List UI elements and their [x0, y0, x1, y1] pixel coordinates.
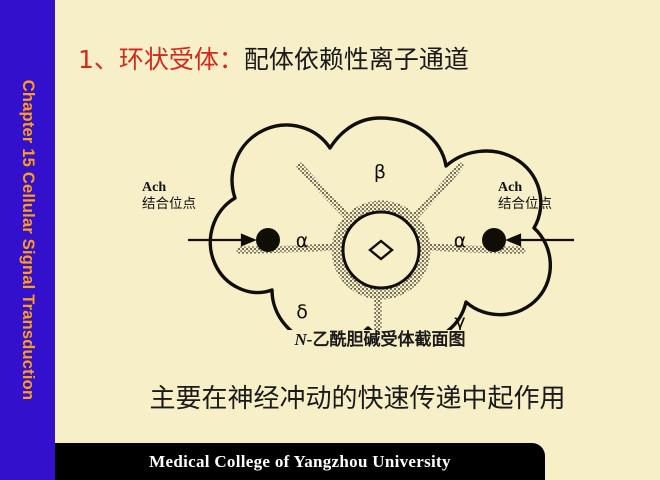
ach-binding-site-label-left: Ach 结合位点 — [142, 180, 196, 212]
ach-label-left-en: Ach — [142, 180, 196, 197]
page-title-rest: 配体依赖性离子通道 — [244, 45, 469, 74]
subunit-label-delta: δ — [296, 301, 308, 323]
ach-label-right-en: Ach — [498, 180, 552, 197]
nicotinic-receptor-illustration: β α α δ γ — [130, 100, 630, 330]
subunit-label-beta: β — [374, 161, 386, 183]
page-title: 1、环状受体：配体依赖性离子通道 — [78, 40, 469, 76]
diagram-caption-text: 乙酰胆碱受体截面图 — [312, 330, 465, 350]
receptor-diagram: β α α δ γ Ach 结合位点 Ach 结合位点 N-乙酰胆碱受体截面图 — [130, 100, 630, 370]
subunit-label-alpha-right: α — [454, 230, 467, 252]
ach-binding-site-label-right: Ach 结合位点 — [498, 180, 552, 212]
central-pore — [338, 207, 424, 293]
footer-bar: Medical College of Yangzhou University — [55, 443, 545, 480]
ach-binding-site-dot-right — [482, 228, 506, 252]
chapter-sidebar: Chapter 15 Cellular Signal Transduction — [0, 0, 55, 480]
ach-label-left-cn: 结合位点 — [142, 197, 196, 213]
diagram-caption: N-乙酰胆碱受体截面图 — [130, 325, 630, 350]
ach-label-right-cn: 结合位点 — [498, 197, 552, 213]
diagram-caption-prefix: N- — [295, 330, 313, 349]
ach-binding-site-dot-left — [256, 228, 280, 252]
subunit-label-alpha-left: α — [296, 230, 309, 252]
footer-institution-name: Medical College of Yangzhou University — [55, 443, 545, 480]
summary-text: 主要在神经冲动的快速传递中起作用 — [55, 378, 660, 415]
page-title-number: 1、环状受体： — [78, 45, 244, 74]
chapter-sidebar-title: Chapter 15 Cellular Signal Transduction — [0, 0, 55, 480]
slide-canvas: Chapter 15 Cellular Signal Transduction … — [0, 0, 660, 480]
